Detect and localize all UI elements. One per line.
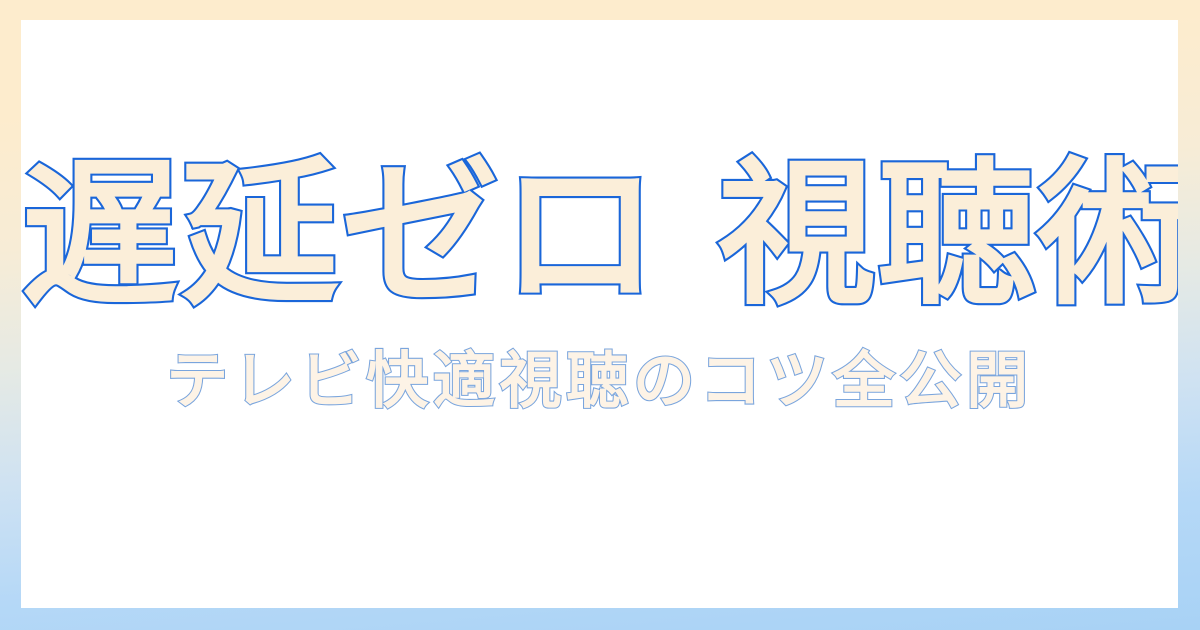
poster-stage: 遅延ゼロ 視聴術 テレビ快適視聴のコツ全公開 xyxy=(21,20,1178,608)
page-title: 遅延ゼロ 視聴術 xyxy=(21,156,1178,314)
headline-block: 遅延ゼロ 視聴術 テレビ快適視聴のコツ全公開 xyxy=(21,156,1178,412)
page-subtitle: テレビ快適視聴のコツ全公開 xyxy=(21,350,1178,412)
poster-frame: 遅延ゼロ 視聴術 テレビ快適視聴のコツ全公開 xyxy=(0,0,1200,630)
